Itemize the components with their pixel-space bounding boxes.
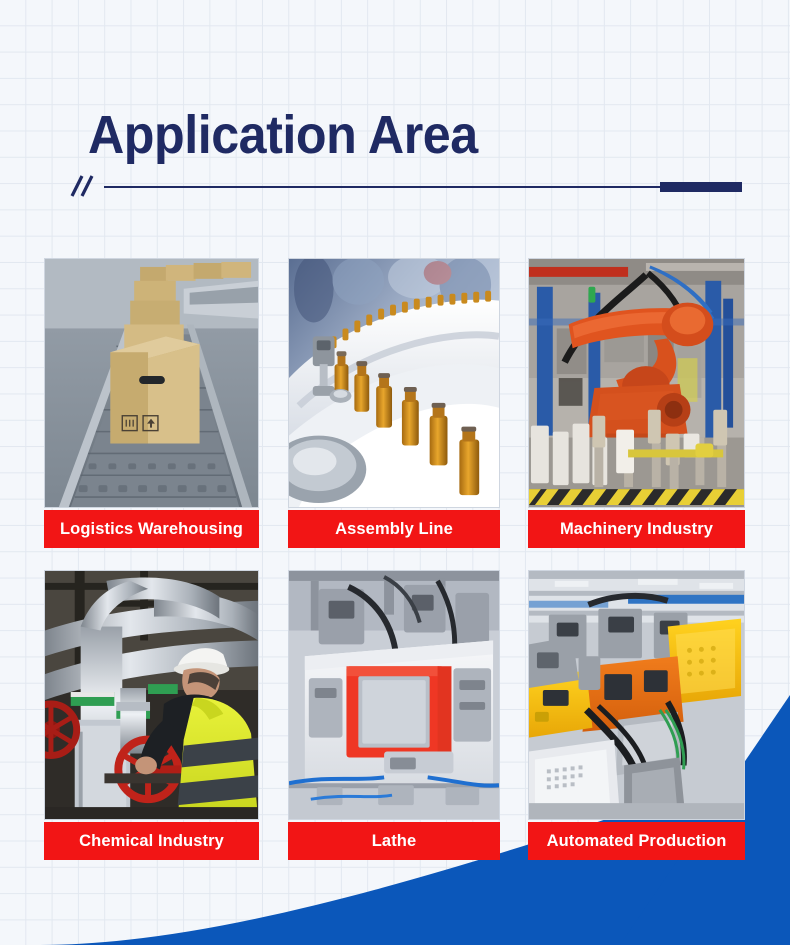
card-photo-chemical-industry bbox=[44, 570, 259, 820]
card-photo-assembly-line bbox=[288, 258, 500, 508]
card-photo-machinery-industry bbox=[528, 258, 745, 508]
application-card[interactable]: Automated Production bbox=[528, 570, 745, 820]
application-card-grid: Logistics Warehousing bbox=[0, 0, 790, 945]
card-label-automated-production: Automated Production bbox=[528, 822, 745, 860]
card-label-assembly-line: Assembly Line bbox=[288, 510, 500, 548]
card-label-logistics-warehousing: Logistics Warehousing bbox=[44, 510, 259, 548]
card-photo-logistics-warehousing bbox=[44, 258, 259, 508]
application-card[interactable]: Machinery Industry bbox=[528, 258, 745, 508]
application-card[interactable]: Chemical Industry bbox=[44, 570, 259, 820]
card-label-chemical-industry: Chemical Industry bbox=[44, 822, 259, 860]
application-card[interactable]: Logistics Warehousing bbox=[44, 258, 259, 508]
application-card[interactable]: Assembly Line bbox=[288, 258, 500, 508]
card-photo-automated-production bbox=[528, 570, 745, 820]
application-card[interactable]: Lathe bbox=[288, 570, 500, 820]
card-label-lathe: Lathe bbox=[288, 822, 500, 860]
card-photo-lathe bbox=[288, 570, 500, 820]
card-label-machinery-industry: Machinery Industry bbox=[528, 510, 745, 548]
